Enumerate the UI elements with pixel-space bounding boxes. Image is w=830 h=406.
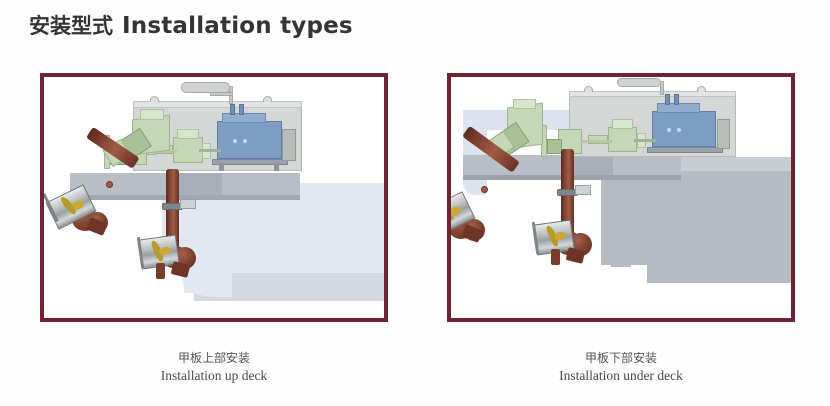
page-title-cjk: 安装型式 [29,14,113,38]
drive-engine-upper [222,113,266,123]
page-title-latin: Installation types [122,13,353,39]
engine-stack-a [230,104,235,115]
machinery-skid-top [133,101,302,108]
exhaust-pipe [660,81,664,95]
drive-shaft [580,140,612,143]
gearbox-housing [608,127,637,152]
lifting-lug-left [150,96,159,102]
shaft-segment [634,139,656,142]
engine-detail-port-2 [243,139,247,143]
pump-block [547,139,562,154]
engine-bedplate [647,147,723,153]
gearbox-cover [612,119,633,129]
engine-detail-port [233,139,237,143]
drive-engine-body [217,121,282,159]
engine-mount-right [274,163,279,171]
caption-right-latin: Installation under deck [447,367,795,385]
thruster-lower-fin [566,247,586,264]
steering-top-cap [140,109,164,120]
engine-stack-b [239,104,244,115]
gearbox-cover [177,129,199,139]
engine-stack-a [665,94,670,105]
thruster-lower-side-stub [575,185,591,195]
drive-engine-body [652,111,716,147]
lifting-lug-right [697,86,706,92]
engine-side-bracket [282,129,296,161]
caption-right-cjk: 甲板下部安装 [447,350,795,367]
caption-left-latin: Installation up deck [40,367,388,385]
thruster-upper-pivot-ring [481,186,488,193]
exhaust-silencer [617,78,661,87]
panel-left-scene [44,77,384,318]
machinery-skid-top [569,91,736,97]
caption-installation-up-deck: 甲板上部安装 Installation up deck [40,350,388,385]
exhaust-pipe-bend [210,92,233,96]
engine-mount-left [219,163,224,171]
thruster-lower-tail [551,249,560,265]
thruster-lower-tail [156,263,165,279]
shaft-segment [199,149,221,152]
panel-installation-under-deck[interactable] [447,73,795,322]
thruster-upper-pivot-ring [106,181,113,188]
thruster-lower-side-stub [180,199,196,209]
lifting-lug-right [263,96,272,102]
lifting-lug-left [584,86,593,92]
panel-installation-up-deck[interactable] [40,73,388,322]
engine-side-bracket [717,119,730,149]
slide-page: 安装型式Installation types [0,0,830,406]
caption-installation-under-deck: 甲板下部安装 Installation under deck [447,350,795,385]
engine-detail-port [667,128,671,132]
engine-detail-port-2 [677,128,681,132]
caption-left-cjk: 甲板上部安装 [40,350,388,367]
engine-stack-b [674,94,679,105]
steering-top-cap [513,99,536,109]
panel-right-scene [451,77,791,318]
page-title: 安装型式Installation types [29,12,353,40]
